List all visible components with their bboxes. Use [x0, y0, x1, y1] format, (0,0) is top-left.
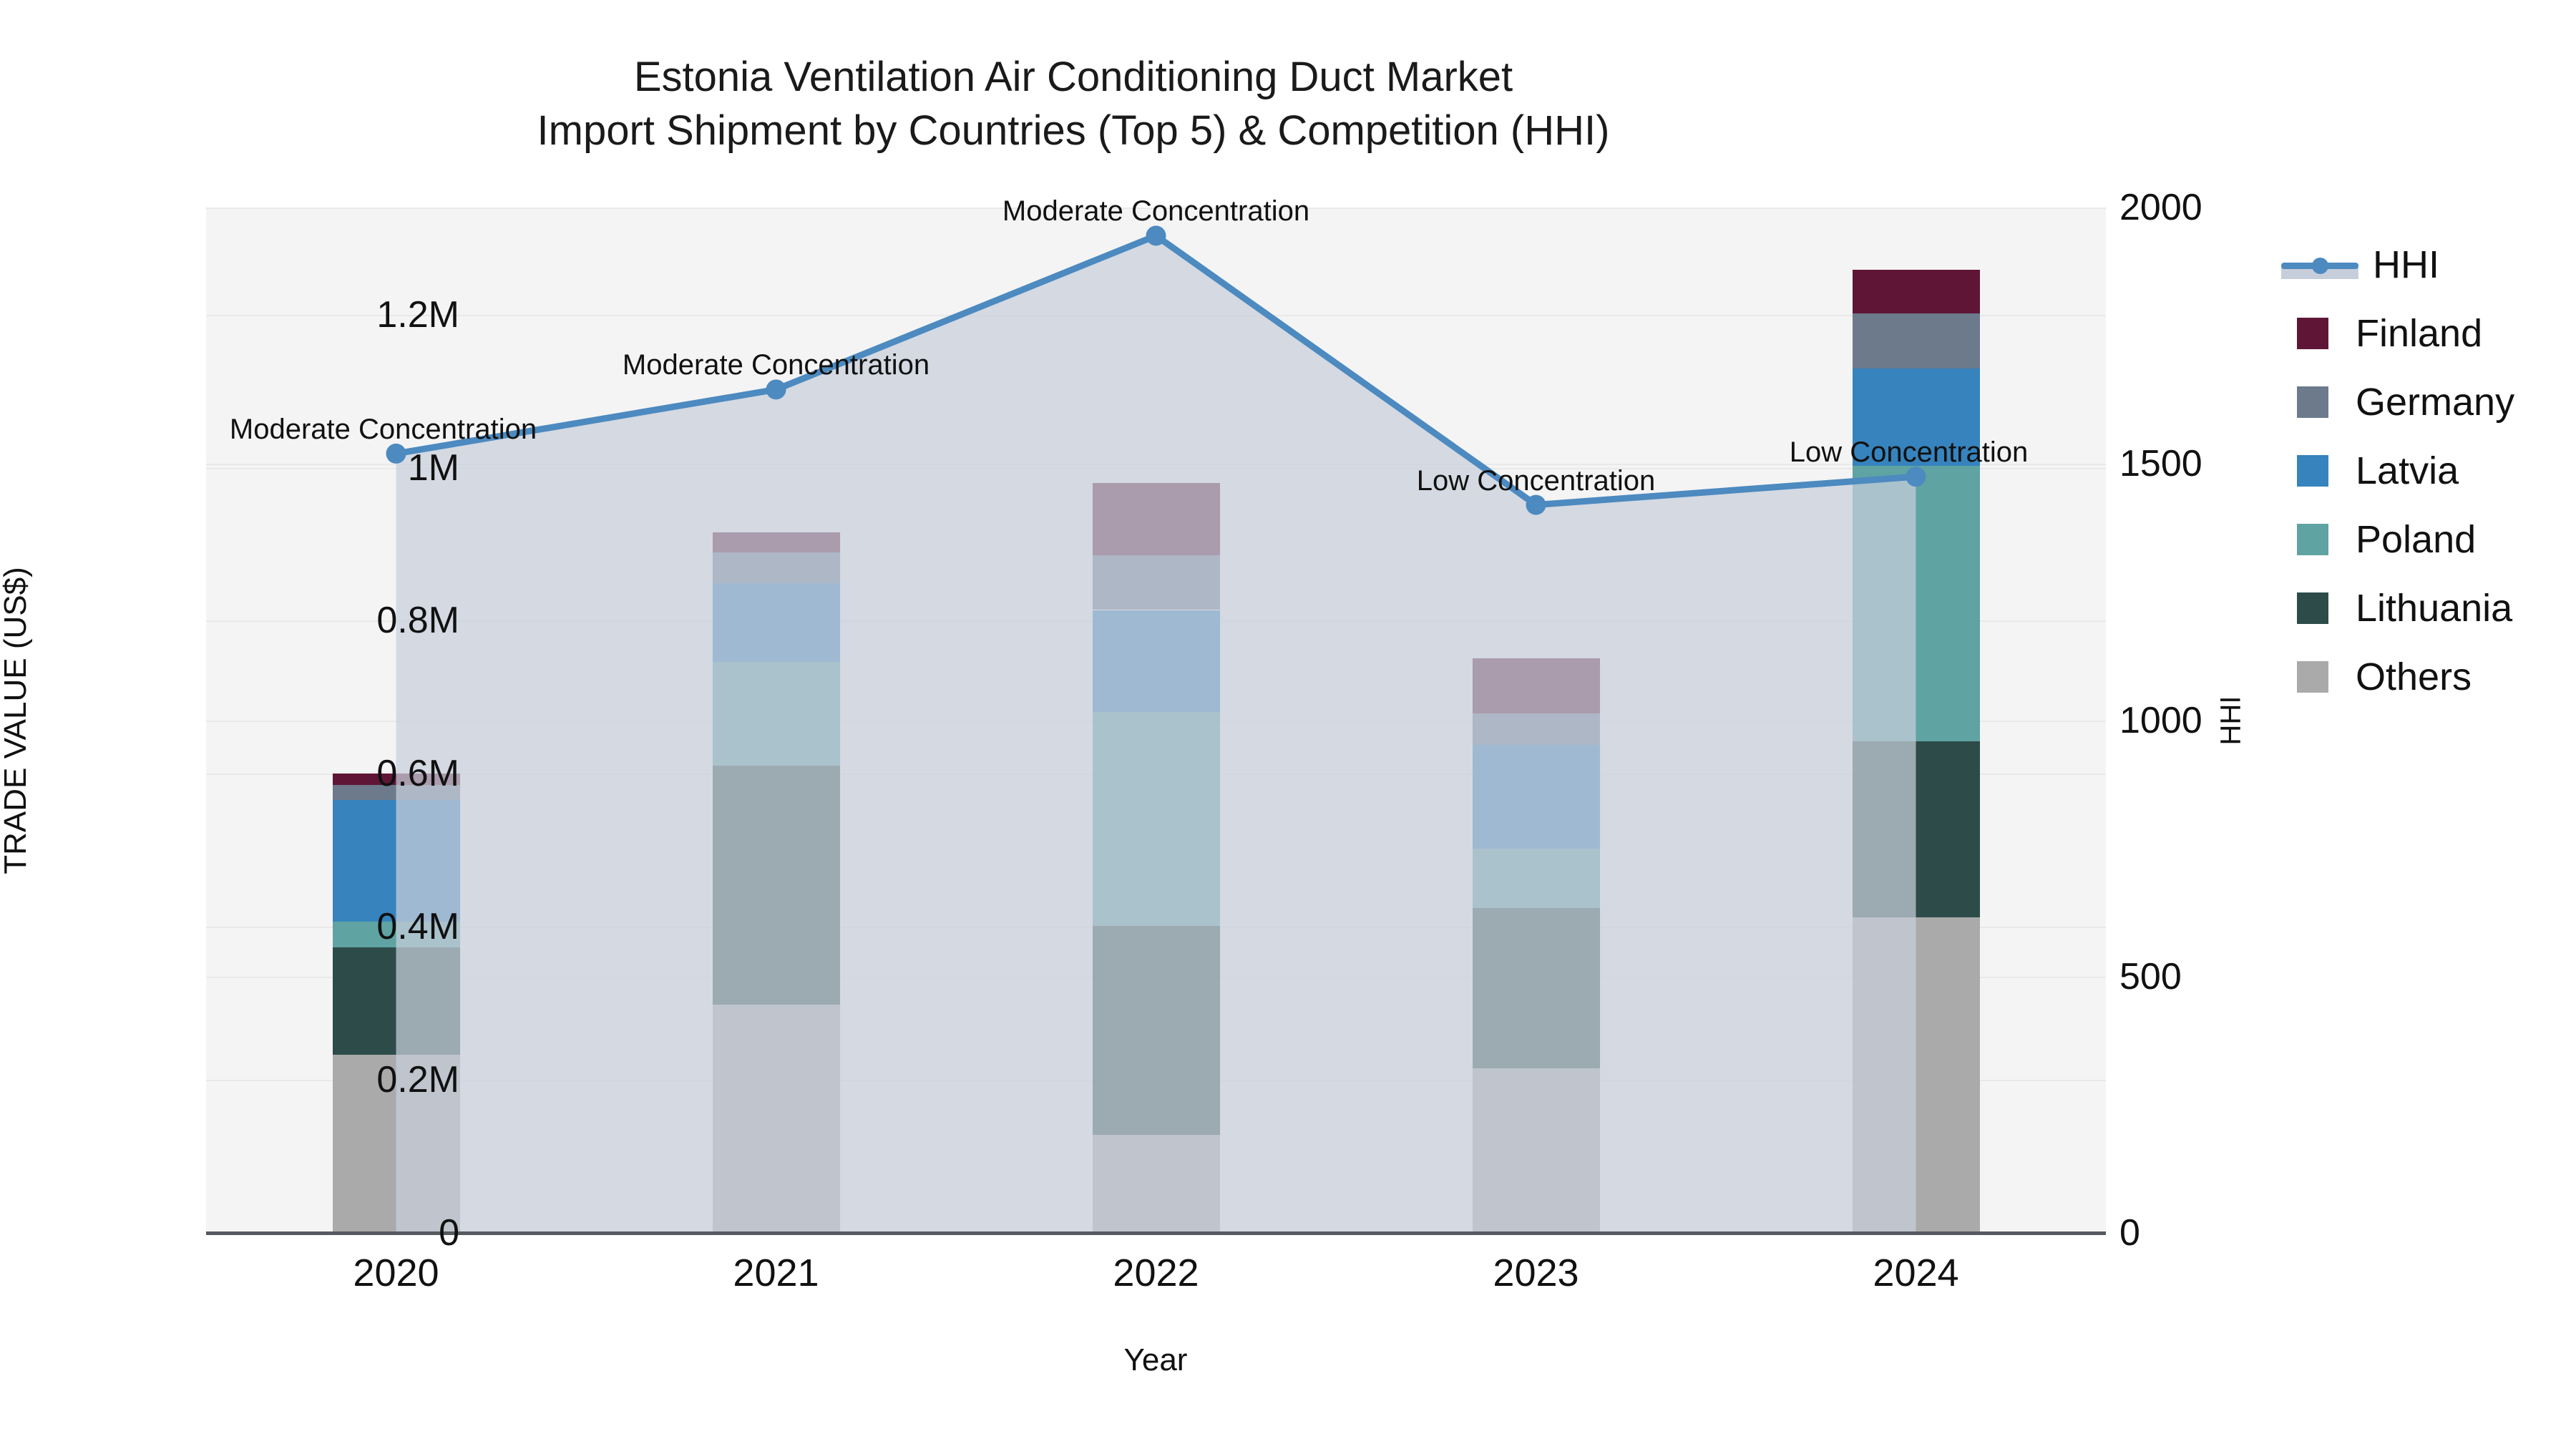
- chart-title: Estonia Ventilation Air Conditioning Duc…: [0, 50, 2147, 158]
- legend-swatch-icon: [2297, 386, 2328, 418]
- y-axis-left-title: TRADE VALUE (US$): [0, 567, 34, 874]
- legend-item-label: Lithuania: [2356, 586, 2512, 630]
- x-axis-tick-label: 2024: [1873, 1251, 1958, 1295]
- legend-line-icon: [2281, 249, 2358, 280]
- x-axis-tick-label: 2023: [1493, 1251, 1579, 1295]
- legend-item-label: Others: [2356, 655, 2472, 699]
- y-axis-left-tick-label: 0.6M: [376, 752, 459, 795]
- x-axis-title: Year: [1124, 1342, 1188, 1378]
- legend-item-label: HHI: [2373, 243, 2439, 287]
- hhi-data-point[interactable]: [766, 379, 786, 399]
- y-axis-left-tick-label: 1M: [408, 447, 459, 489]
- x-axis-tick-label: 2020: [353, 1251, 439, 1295]
- hhi-data-point[interactable]: [1906, 467, 1926, 487]
- hhi-annotation: Moderate Concentration: [230, 414, 537, 446]
- y-axis-left-tick-label: 1.2M: [376, 293, 459, 336]
- legend-swatch-icon: [2297, 524, 2328, 555]
- chart-title-line-2: Import Shipment by Countries (Top 5) & C…: [0, 104, 2147, 157]
- legend-item-label: Latvia: [2356, 449, 2459, 493]
- hhi-area-fill: [396, 235, 1916, 1233]
- legend-item-hhi[interactable]: HHI: [2281, 230, 2514, 299]
- hhi-annotation: Moderate Concentration: [623, 349, 930, 381]
- y-axis-left-tick-label: 0: [439, 1211, 459, 1254]
- hhi-line-layer: [206, 208, 2106, 1233]
- legend-item-label: Germany: [2356, 380, 2514, 424]
- hhi-data-point[interactable]: [1526, 495, 1546, 515]
- legend-item-latvia[interactable]: Latvia: [2281, 436, 2514, 505]
- y-axis-right-tick-label: 0: [2119, 1211, 2140, 1254]
- x-axis-tick-label: 2022: [1113, 1251, 1199, 1295]
- hhi-annotation: Moderate Concentration: [1002, 195, 1309, 228]
- legend: HHIFinlandGermanyLatviaPolandLithuaniaOt…: [2281, 230, 2514, 711]
- legend-item-lithuania[interactable]: Lithuania: [2281, 574, 2514, 643]
- legend-item-label: Finland: [2356, 311, 2482, 356]
- y-axis-right-tick-label: 1500: [2119, 442, 2202, 485]
- x-axis-tick-label: 2021: [733, 1251, 819, 1295]
- legend-line-dot-icon: [2312, 258, 2328, 274]
- legend-item-label: Poland: [2356, 517, 2476, 562]
- legend-swatch-icon: [2297, 592, 2328, 624]
- hhi-data-point[interactable]: [386, 444, 406, 464]
- y-axis-left-tick-label: 0.4M: [376, 905, 459, 948]
- legend-item-finland[interactable]: Finland: [2281, 299, 2514, 368]
- y-axis-right-tick-label: 1000: [2119, 699, 2202, 742]
- legend-swatch-icon: [2297, 455, 2328, 487]
- y-axis-left-tick-label: 0.8M: [376, 599, 459, 642]
- legend-swatch-icon: [2297, 318, 2328, 349]
- y-axis-right-title: HHI: [2215, 696, 2248, 746]
- hhi-annotation: Low Concentration: [1790, 436, 2029, 469]
- chart-figure: Estonia Ventilation Air Conditioning Duc…: [0, 0, 2576, 1449]
- x-axis-line: [206, 1231, 2106, 1235]
- hhi-data-point[interactable]: [1146, 225, 1166, 245]
- legend-item-others[interactable]: Others: [2281, 643, 2514, 711]
- legend-swatch-icon: [2297, 661, 2328, 693]
- legend-item-poland[interactable]: Poland: [2281, 505, 2514, 574]
- legend-item-germany[interactable]: Germany: [2281, 368, 2514, 436]
- chart-title-line-1: Estonia Ventilation Air Conditioning Duc…: [0, 50, 2147, 104]
- y-axis-left-tick-label: 0.2M: [376, 1058, 459, 1101]
- hhi-annotation: Low Concentration: [1417, 465, 1656, 497]
- y-axis-right-tick-label: 500: [2119, 955, 2182, 998]
- y-axis-right-tick-label: 2000: [2119, 186, 2202, 229]
